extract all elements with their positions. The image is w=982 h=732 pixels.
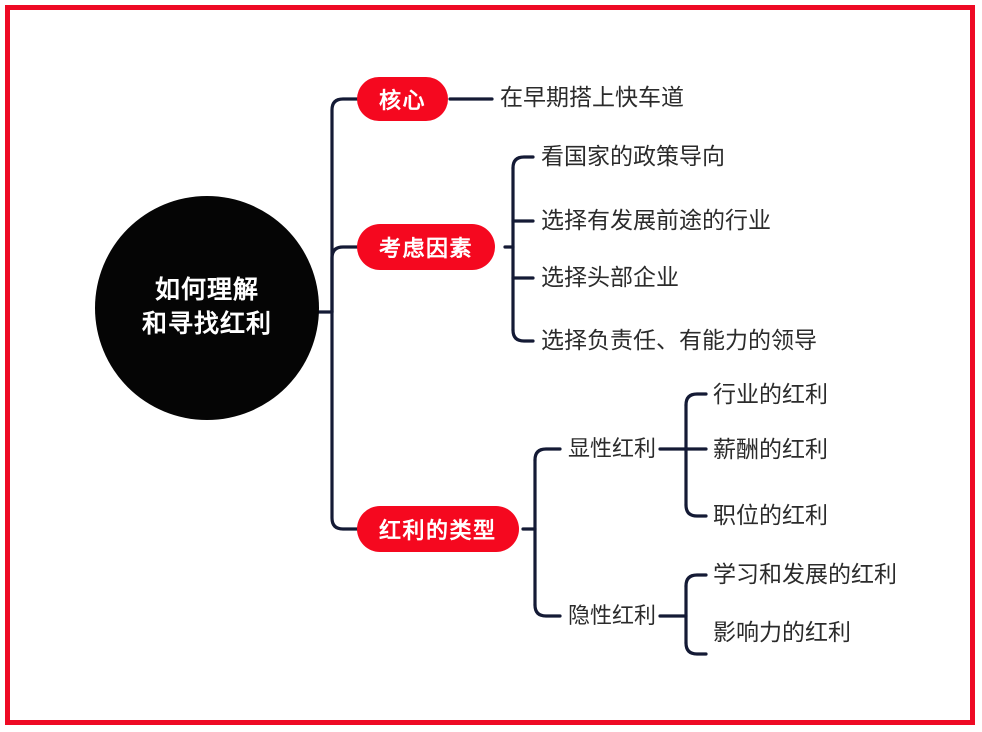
edge-trunk-types [332, 312, 357, 529]
edge-types-explicit [535, 449, 560, 460]
leaf-implicit-2[interactable]: 影响力的红利 [713, 621, 851, 644]
leaf-factors-3[interactable]: 选择头部企业 [541, 266, 679, 289]
edge-implicit-child2 [686, 643, 706, 654]
edge-factors-child4 [513, 330, 533, 341]
subbranch-explicit-label[interactable]: 显性红利 [568, 438, 656, 460]
branch-node-types[interactable]: 红利的类型 [357, 506, 519, 552]
leaf-explicit-3[interactable]: 职位的红利 [713, 504, 828, 527]
branch-node-types-label: 红利的类型 [379, 513, 497, 545]
root-node[interactable]: 如何理解 和寻找红利 [95, 196, 319, 420]
edge-explicit-child3 [686, 505, 706, 516]
edge-factors-bracket [513, 157, 533, 168]
branch-node-factors-label: 考虑因素 [379, 231, 473, 263]
root-node-label: 如何理解 和寻找红利 [142, 274, 272, 342]
branch-node-factors[interactable]: 考虑因素 [357, 224, 495, 270]
edge-implicit-child1 [686, 575, 706, 586]
root-node-label-line1: 如何理解 [155, 276, 259, 304]
leaf-factors-1[interactable]: 看国家的政策导向 [541, 145, 725, 168]
branch-node-core[interactable]: 核心 [357, 77, 448, 121]
edge-trunk-factors [332, 247, 357, 312]
leaf-factors-4[interactable]: 选择负责任、有能力的领导 [541, 329, 817, 352]
leaf-explicit-1[interactable]: 行业的红利 [713, 383, 828, 406]
edge-types-implicit [535, 605, 560, 616]
edge-trunk-core [332, 99, 357, 312]
subbranch-implicit-label[interactable]: 隐性红利 [568, 605, 656, 627]
leaf-factors-2[interactable]: 选择有发展前途的行业 [541, 209, 771, 232]
mindmap-canvas: 如何理解 和寻找红利 核心 考虑因素 红利的类型 在早期搭上快车道 看国家的政策… [0, 0, 982, 732]
leaf-core-1[interactable]: 在早期搭上快车道 [500, 86, 684, 109]
leaf-implicit-1[interactable]: 学习和发展的红利 [713, 563, 897, 586]
leaf-explicit-2[interactable]: 薪酬的红利 [713, 438, 828, 461]
root-node-label-line2: 和寻找红利 [142, 308, 272, 342]
edge-explicit-child1 [686, 394, 706, 405]
branch-node-core-label: 核心 [379, 83, 426, 115]
